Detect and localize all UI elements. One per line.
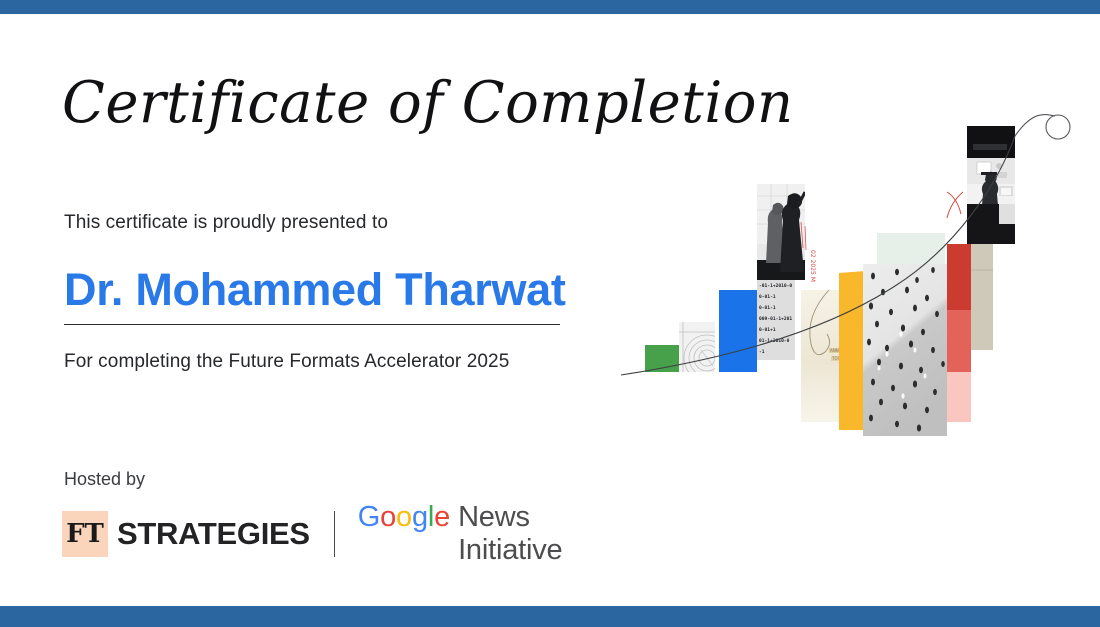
google-letter-e: e [434,501,450,533]
collage-red-scribble [947,192,963,218]
certificate: Certificate of Completion This certifica… [0,0,1100,627]
ft-strategies-wordmark: STRATEGIES [117,516,310,552]
svg-text:-1: -1 [759,349,765,355]
google-wordmark: Google [358,501,450,534]
recipient-name: Dr. Mohammed Tharwat [64,264,566,316]
svg-text:0-01-1: 0-01-1 [759,305,776,311]
top-accent-band [0,0,1100,14]
name-underline-rule [64,324,560,325]
svg-text:0-01+1: 0-01+1 [759,327,776,333]
logo-divider [334,511,335,557]
google-letter-o2: o [396,501,412,533]
hosted-by-label: Hosted by [64,469,145,490]
collage-lineart-bar [679,322,715,372]
certificate-content: Certificate of Completion This certifica… [0,14,620,606]
logo-row: FT STRATEGIES Google News Initiative [62,511,620,557]
collage-people-photo: 02 2025 M [757,184,816,282]
completion-description: For completing the Future Formats Accele… [64,351,509,373]
collage-red-vertical-text: 02 2025 M [809,250,816,282]
news-initiative-wordmark: News Initiative [458,501,620,567]
collage-artwork: -01-1+2010-0 0-01-1 0-01-1 009-01-1+201 … [615,100,1095,500]
google-letter-o1: o [380,501,396,533]
google-news-initiative-logo: Google News Initiative [358,501,620,567]
ft-monogram-icon: FT [62,511,108,557]
ft-strategies-logo: FT STRATEGIES [62,511,310,557]
collage-red-stack-bar [947,244,971,422]
svg-text:-01-1+2010-0: -01-1+2010-0 [759,283,792,289]
google-letter-g1: G [358,501,380,533]
presented-to-label: This certificate is proudly presented to [64,212,388,234]
collage-blue-bar [719,290,757,372]
svg-text:009-01-1+201: 009-01-1+201 [759,316,792,322]
svg-text:0-01-1: 0-01-1 [759,294,776,300]
collage-crowd-photo [863,264,947,436]
bottom-accent-band [0,606,1100,627]
google-letter-g2: g [412,501,428,533]
collage-endpoint-circle [1046,115,1070,139]
